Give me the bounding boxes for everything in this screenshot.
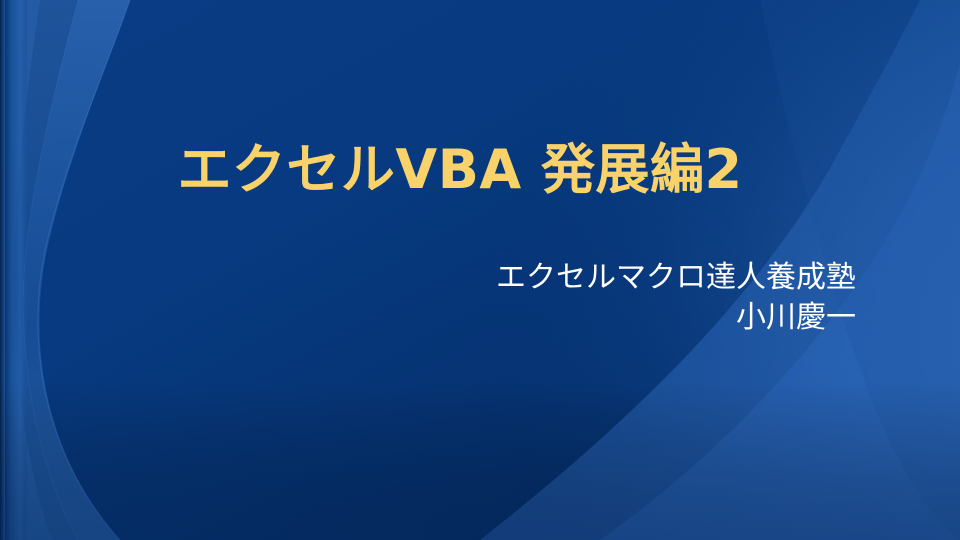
slide-content: エクセルVBA 発展編2 エクセルマクロ達人養成塾 小川慶一 xyxy=(0,0,960,540)
subtitle-block: エクセルマクロ達人養成塾 小川慶一 xyxy=(300,258,856,338)
presentation-slide: エクセルVBA 発展編2 エクセルマクロ達人養成塾 小川慶一 xyxy=(0,0,960,540)
page-title: エクセルVBA 発展編2 xyxy=(60,140,860,200)
subtitle-line-organization: エクセルマクロ達人養成塾 xyxy=(300,258,856,298)
subtitle-line-author: 小川慶一 xyxy=(300,298,856,338)
title-block: エクセルVBA 発展編2 xyxy=(60,140,860,200)
